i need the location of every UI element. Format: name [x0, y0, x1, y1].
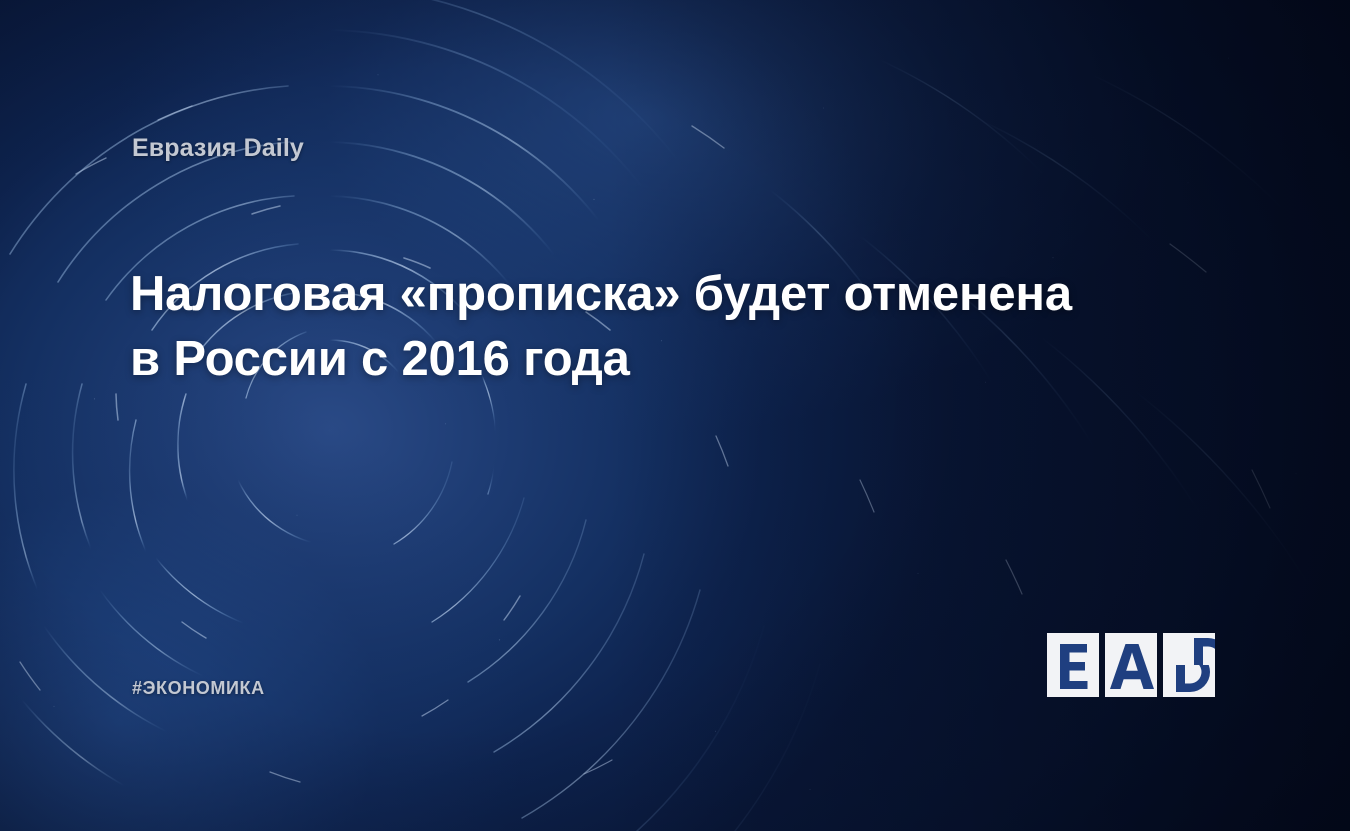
logo-tile-e — [1047, 633, 1099, 697]
page-title: Налоговая «прописка» будет отменена в Ро… — [130, 262, 1220, 392]
social-card: Евразия Daily Налоговая «прописка» будет… — [0, 0, 1350, 831]
category-tag[interactable]: #ЭКОНОМИКА — [132, 678, 265, 699]
headline-line-1: Налоговая «прописка» будет отменена — [130, 262, 1220, 327]
headline-line-2: в России с 2016 года — [130, 327, 1220, 392]
logo-tile-a — [1105, 633, 1157, 697]
ead-logo[interactable] — [1047, 630, 1229, 700]
brand-name: Евразия Daily — [132, 134, 304, 163]
card-content: Евразия Daily Налоговая «прописка» будет… — [0, 0, 1350, 831]
logo-tile-d-split — [1163, 633, 1228, 697]
